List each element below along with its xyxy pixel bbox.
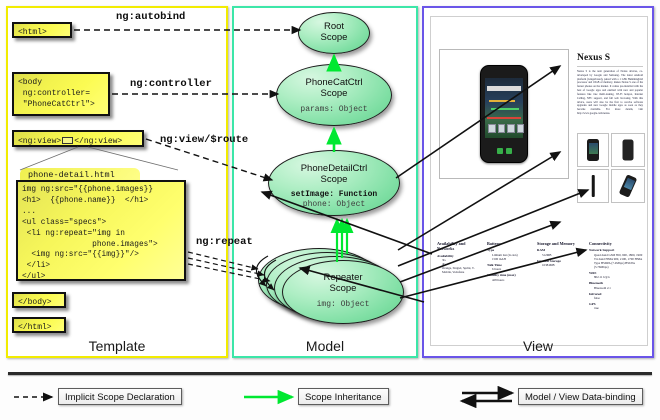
spec-heading: Storage and Memory bbox=[537, 241, 587, 246]
caption-model: Model bbox=[232, 338, 418, 354]
scope-phonedetailctrl-prop-phone: phone: Object bbox=[269, 200, 399, 210]
scope-root-title: RootScope bbox=[299, 22, 369, 43]
spec-heading: Battery bbox=[487, 241, 533, 246]
callout-code: img ng:src="{{phone.images}} <h1> {{phon… bbox=[16, 180, 186, 281]
spec-value: true bbox=[589, 306, 643, 310]
thumbnail-front[interactable] bbox=[577, 133, 609, 167]
scope-phonedetailctrl-prop-setimage: setImage: Function bbox=[269, 190, 399, 200]
spec-value: false bbox=[589, 296, 643, 300]
phone-screen bbox=[485, 78, 523, 138]
scope-repeater-title: RepeaterScope bbox=[283, 273, 403, 294]
legend-divider bbox=[8, 372, 652, 375]
ngview-close-tag: </ng:view> bbox=[74, 137, 122, 146]
ngview-placeholder-icon bbox=[62, 137, 73, 144]
scope-phonecatctrl-prop-params: params: Object bbox=[277, 105, 391, 115]
spec-value: 428 hours bbox=[487, 278, 533, 282]
thumbnail-angle[interactable] bbox=[611, 169, 645, 203]
scope-phonedetailctrl: PhoneDetailCtrlScope setImage: Function … bbox=[268, 150, 400, 216]
label-ng-autobind: ng:autobind bbox=[116, 11, 185, 23]
code-box-body-open: <body ng:controller= "PhoneCatCtrl"> bbox=[12, 72, 110, 116]
view-description: Nexus S is the next generation of Nexus … bbox=[577, 70, 643, 116]
label-ng-controller: ng:controller bbox=[130, 78, 212, 90]
spec-column-connectivity: Connectivity Network Support Quad-band G… bbox=[589, 241, 643, 310]
scope-repeater-prop-img: img: Object bbox=[283, 300, 403, 310]
legend-item-scope-inheritance: Scope Inheritance bbox=[298, 388, 389, 405]
diagram-canvas: <html> <body ng:controller= "PhoneCatCtr… bbox=[0, 0, 660, 420]
label-ng-view-route: ng:view/$route bbox=[160, 134, 248, 146]
caption-template: Template bbox=[6, 338, 228, 354]
spec-column-battery: Battery Type Lithium Ion (Li-Ion) 1500 m… bbox=[487, 241, 533, 282]
title-divider bbox=[577, 66, 643, 67]
spec-heading: Availability and Networks bbox=[437, 241, 481, 252]
phone-app-icons bbox=[488, 124, 524, 133]
view-title: Nexus S bbox=[577, 53, 610, 63]
scope-root: RootScope bbox=[298, 12, 370, 54]
thumbnail-back[interactable] bbox=[611, 133, 645, 167]
view-rendered-page: Nexus S Nexus S is the next generation o… bbox=[430, 16, 648, 346]
callout-phone-detail: phone-detail.html img ng:src="{{phone.im… bbox=[16, 168, 186, 281]
code-box-html-open: <html> bbox=[12, 22, 72, 38]
code-box-ngview: <ng:view></ng:view> bbox=[12, 130, 144, 147]
spec-value: 6 hours bbox=[487, 267, 533, 271]
spec-column-storage: Storage and Memory RAM 512MB Internal St… bbox=[537, 241, 587, 267]
hero-image bbox=[439, 49, 569, 179]
spec-value: 802.11 b/g/n bbox=[589, 275, 643, 279]
scope-phonecatctrl-title: PhoneCatCtrlScope bbox=[277, 78, 391, 99]
legend-item-implicit-scope-declaration: Implicit Scope Declaration bbox=[58, 388, 182, 405]
scope-phonedetailctrl-title: PhoneDetailCtrlScope bbox=[269, 164, 399, 185]
spec-column-availability: Availability and Networks Availability 3… bbox=[437, 241, 481, 274]
spec-heading: Connectivity bbox=[589, 241, 643, 246]
label-ng-repeat: ng:repeat bbox=[196, 236, 253, 248]
spec-value: 512MB bbox=[537, 253, 587, 257]
spec-value: 1500 mAH bbox=[487, 257, 533, 261]
code-box-body-close: </body> bbox=[12, 292, 66, 308]
thumbnail-side[interactable] bbox=[577, 169, 609, 203]
caption-view: View bbox=[422, 338, 654, 354]
spec-value: Orange, Singtel, Sprint, T-Mobile, Vodaf… bbox=[437, 266, 481, 274]
spec-value: Quad-band GSM 850, 900, 1800, 1900 Tri-b… bbox=[589, 253, 643, 269]
spec-value: 16384MB bbox=[537, 263, 587, 267]
scope-phonecatctrl: PhoneCatCtrlScope params: Object bbox=[276, 64, 392, 126]
phone-buttons bbox=[486, 148, 522, 155]
legend-item-model-view-data-binding: Model / View Data-binding bbox=[518, 388, 643, 405]
scope-repeater: RepeaterScope img: Object bbox=[282, 260, 404, 324]
code-box-html-close: </html> bbox=[12, 317, 66, 333]
ngview-open-tag: <ng:view> bbox=[18, 137, 61, 146]
phone-illustration bbox=[480, 65, 528, 163]
spec-value: Bluetooth 2.1 bbox=[589, 286, 643, 290]
